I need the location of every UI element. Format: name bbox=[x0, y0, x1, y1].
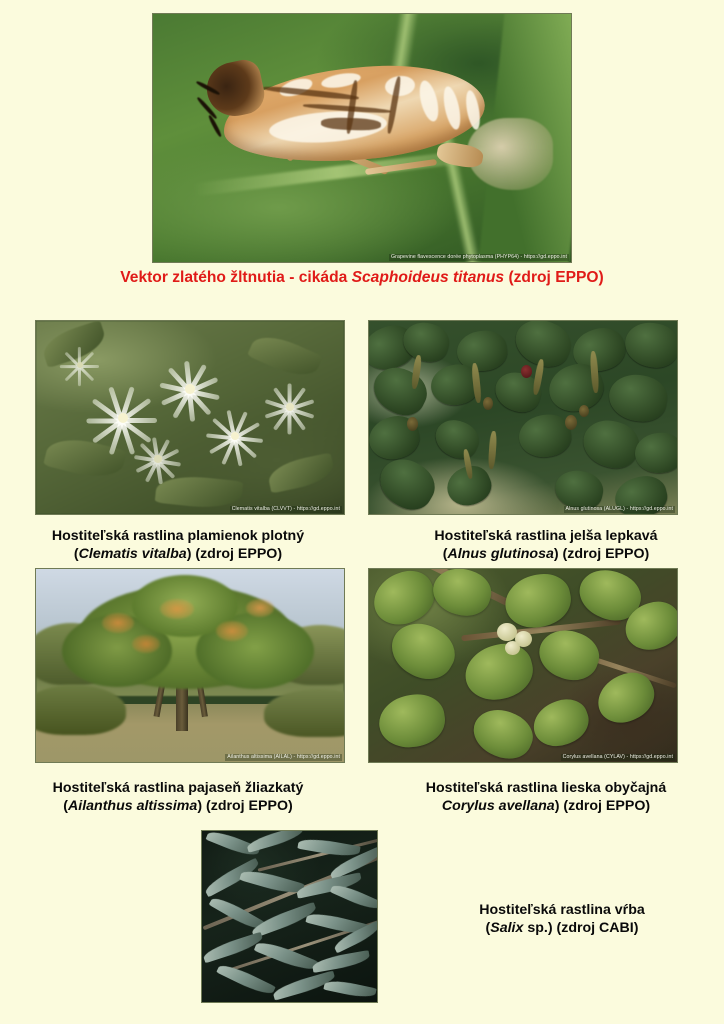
caption-salix-line1: Hostiteľská rastlina vŕba bbox=[400, 902, 724, 920]
photo-scaphoideus-titanus: Grapevine flavescence dorée phytoplasma … bbox=[152, 13, 572, 263]
caption-species: Alnus glutinosa bbox=[447, 546, 553, 562]
caption-species: Salix bbox=[490, 920, 523, 936]
caption-clematis-line1: Hostiteľská rastlina plamienok plotný bbox=[0, 528, 356, 546]
caption-salix: Hostiteľská rastlina vŕba (Salix sp.) (z… bbox=[400, 902, 724, 937]
caption-species: Clematis vitalba bbox=[79, 546, 187, 562]
caption-species: Corylus avellana bbox=[442, 798, 555, 814]
caption-corylus-line1: Hostiteľská rastlina lieska obyčajná bbox=[368, 780, 724, 798]
vector-caption-suffix: (zdroj EPPO) bbox=[504, 269, 604, 286]
caption-ailanthus: Hostiteľská rastlina pajaseň žliazkatý (… bbox=[0, 780, 356, 815]
alnus-scene: Alnus glutinosa (ALUGL) - https://gd.epp… bbox=[369, 321, 677, 514]
hazel-nut bbox=[497, 623, 517, 641]
alnus-cone bbox=[483, 397, 493, 410]
caption-species: Ailanthus altissima bbox=[68, 798, 197, 814]
foreground-shrub bbox=[36, 685, 126, 735]
photo-watermark: Ailanthus altissima (AILAL) - https://gd… bbox=[225, 754, 342, 761]
clematis-flower bbox=[132, 433, 184, 485]
caption-source: ) (zdroj EPPO) bbox=[187, 546, 282, 562]
photo-salix-sp bbox=[201, 830, 378, 1003]
alnus-cone bbox=[565, 415, 577, 430]
clematis-scene: Clematis vitalba (CLVVT) - https://gd.ep… bbox=[36, 321, 344, 514]
photo-watermark: Corylus avellana (CYLAV) - https://gd.ep… bbox=[561, 754, 675, 761]
caption-source: ) (zdroj EPPO) bbox=[197, 798, 292, 814]
photo-watermark: Grapevine flavescence dorée phytoplasma … bbox=[389, 254, 569, 261]
caption-salix-line2: (Salix sp.) (zdroj CABI) bbox=[400, 920, 724, 938]
photo-watermark: Alnus glutinosa (ALUGL) - https://gd.epp… bbox=[564, 506, 675, 513]
caption-source: ) (zdroj EPPO) bbox=[555, 798, 650, 814]
clematis-flower bbox=[204, 405, 266, 467]
samara-cluster bbox=[132, 635, 160, 653]
photo-corylus-avellana: Corylus avellana (CYLAV) - https://gd.ep… bbox=[368, 568, 678, 763]
caption-ailanthus-line2: (Ailanthus altissima) (zdroj EPPO) bbox=[0, 798, 356, 816]
caption-clematis-line2: (Clematis vitalba) (zdroj EPPO) bbox=[0, 546, 356, 564]
samara-cluster bbox=[216, 621, 248, 641]
samara-cluster bbox=[160, 599, 194, 619]
corylus-scene: Corylus avellana (CYLAV) - https://gd.ep… bbox=[369, 569, 677, 762]
alnus-cone bbox=[579, 405, 589, 417]
caption-alnus-line2: (Alnus glutinosa) (zdroj EPPO) bbox=[368, 546, 724, 564]
leafhopper-scene: Grapevine flavescence dorée phytoplasma … bbox=[153, 14, 571, 262]
caption-alnus: Hostiteľská rastlina jelša lepkavá (Alnu… bbox=[368, 528, 724, 563]
photo-alnus-glutinosa: Alnus glutinosa (ALUGL) - https://gd.epp… bbox=[368, 320, 678, 515]
photo-watermark: Clematis vitalba (CLVVT) - https://gd.ep… bbox=[230, 506, 342, 513]
vector-caption: Vektor zlatého žltnutia - cikáda Scaphoi… bbox=[0, 268, 724, 288]
hazel-nut bbox=[505, 641, 520, 655]
photo-clematis-vitalba: Clematis vitalba (CLVVT) - https://gd.ep… bbox=[35, 320, 345, 515]
vector-caption-species: Scaphoideus titanus bbox=[352, 269, 505, 286]
samara-cluster bbox=[102, 613, 134, 633]
photo-ailanthus-altissima: Ailanthus altissima (AILAL) - https://gd… bbox=[35, 568, 345, 763]
caption-corylus: Hostiteľská rastlina lieska obyčajná Cor… bbox=[368, 780, 724, 815]
alnus-cone bbox=[521, 365, 532, 378]
clematis-flower bbox=[262, 379, 318, 435]
clematis-flower bbox=[58, 343, 102, 387]
vector-caption-prefix: Vektor zlatého žltnutia - cikáda bbox=[120, 269, 351, 286]
caption-corylus-line2: Corylus avellana) (zdroj EPPO) bbox=[368, 798, 724, 816]
samara-cluster bbox=[246, 599, 274, 617]
alnus-cone bbox=[407, 417, 418, 431]
caption-clematis: Hostiteľská rastlina plamienok plotný (C… bbox=[0, 528, 356, 563]
caption-source: sp.) (zdroj CABI) bbox=[523, 920, 638, 936]
slide-page: Grapevine flavescence dorée phytoplasma … bbox=[0, 0, 724, 1024]
caption-ailanthus-line1: Hostiteľská rastlina pajaseň žliazkatý bbox=[0, 780, 356, 798]
ailanthus-scene: Ailanthus altissima (AILAL) - https://gd… bbox=[36, 569, 344, 762]
salix-scene bbox=[202, 831, 377, 1002]
caption-alnus-line1: Hostiteľská rastlina jelša lepkavá bbox=[368, 528, 724, 546]
caption-source: ) (zdroj EPPO) bbox=[554, 546, 649, 562]
